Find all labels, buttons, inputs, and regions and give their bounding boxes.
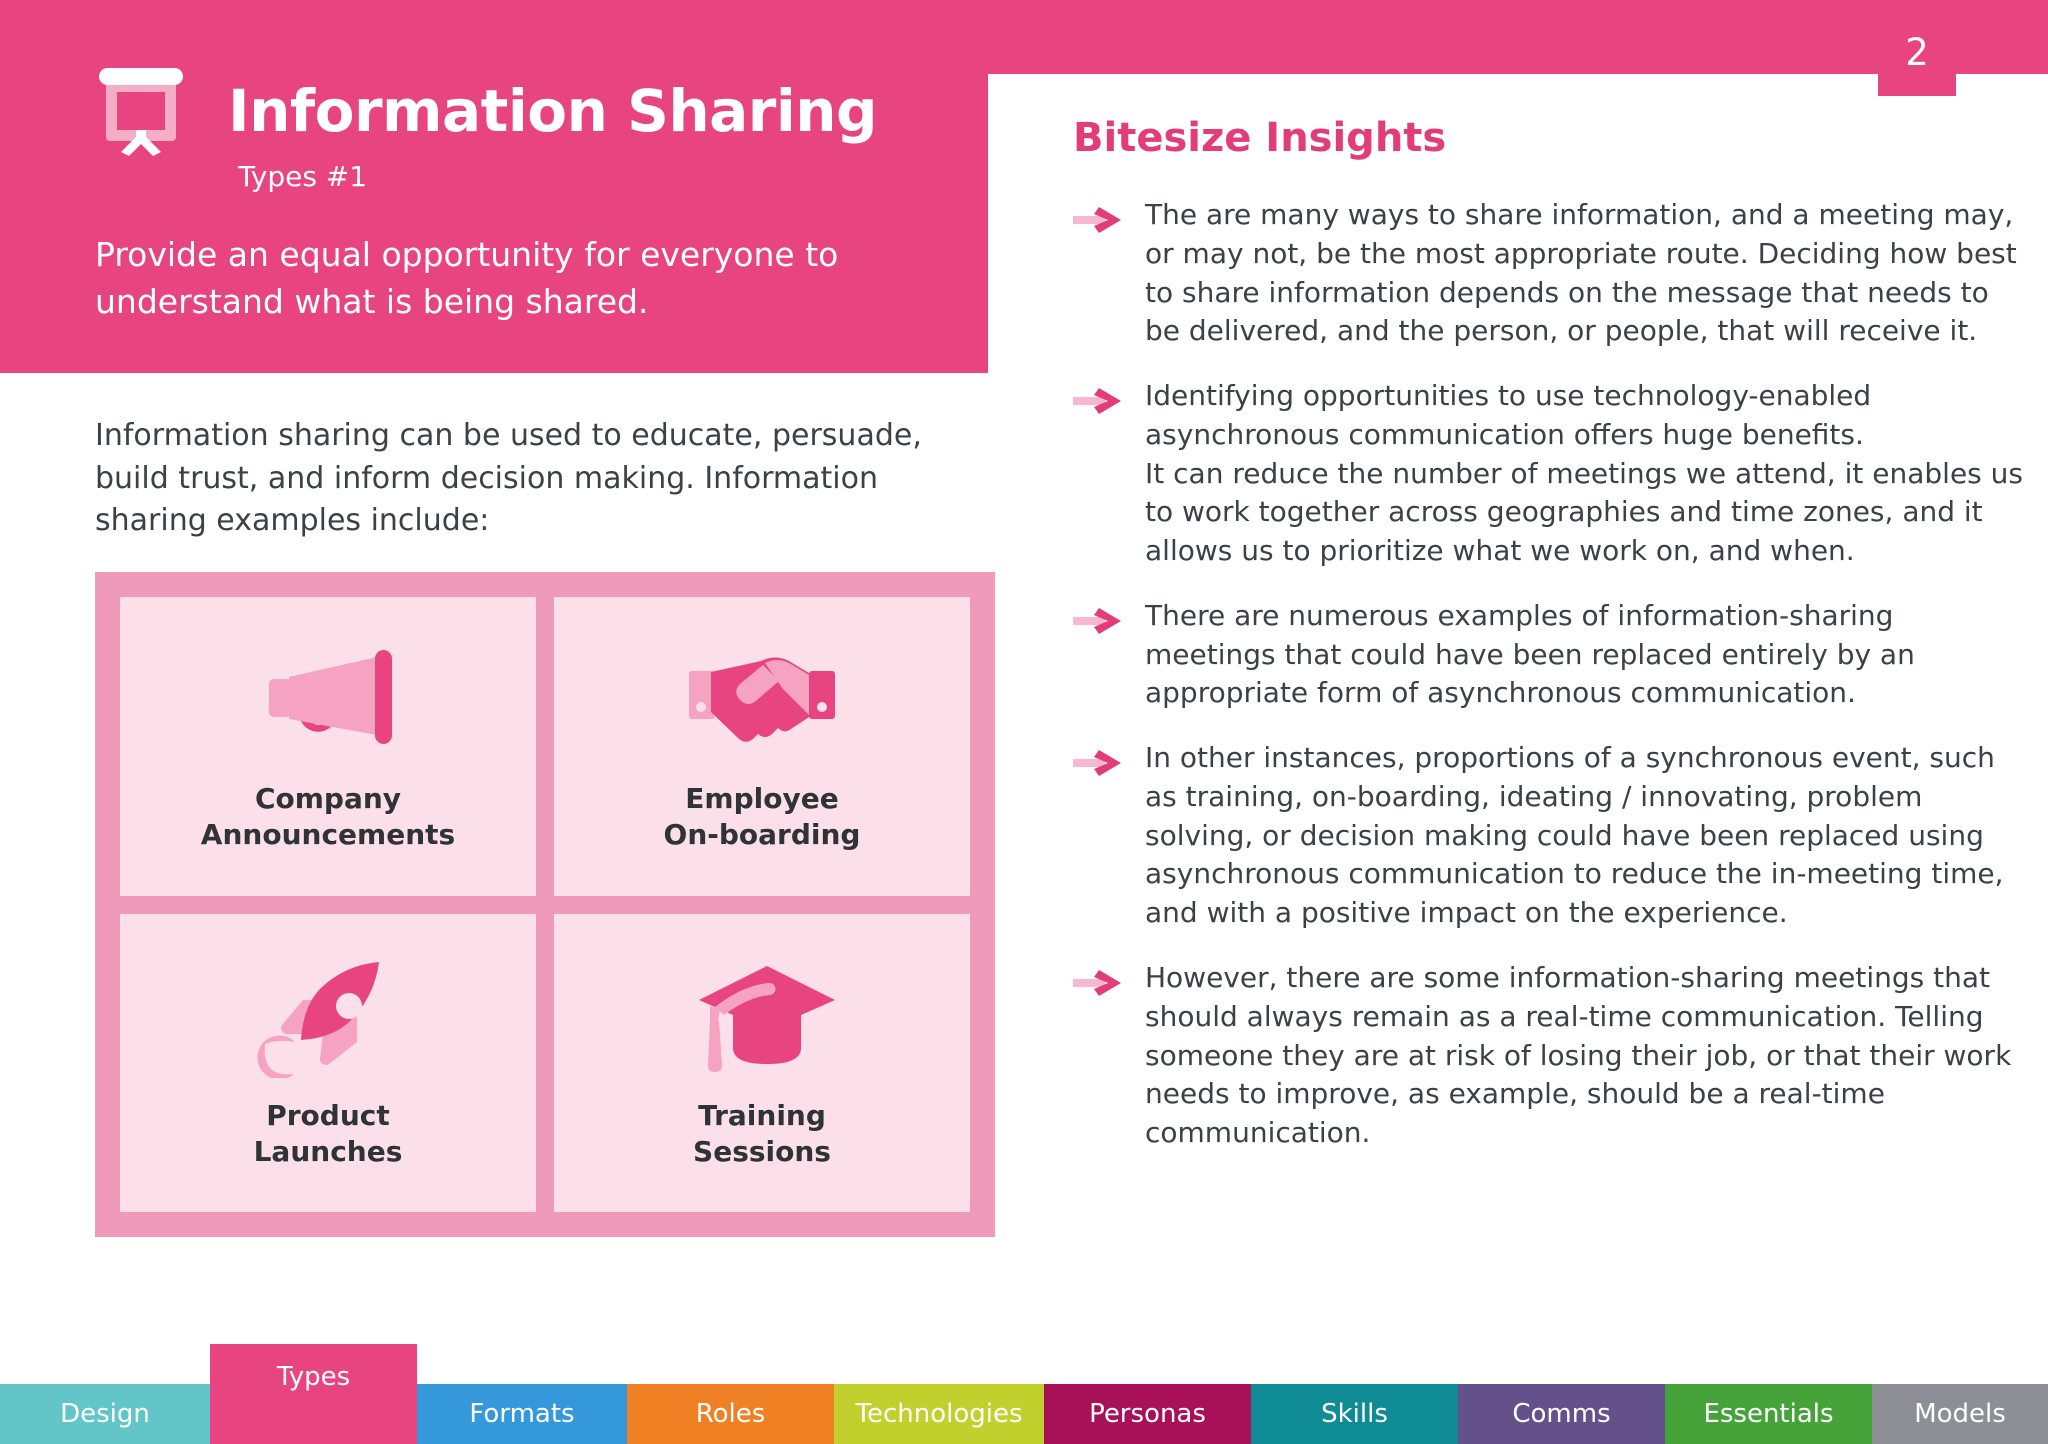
- arrow-right-icon: [1073, 959, 1145, 1153]
- insight-text: In other instances, proportions of a syn…: [1145, 739, 2023, 933]
- insights-heading: Bitesize Insights: [1073, 118, 1446, 158]
- arrow-right-icon: [1073, 739, 1145, 933]
- megaphone-icon: [253, 639, 403, 767]
- insight-item: The are many ways to share information, …: [1073, 196, 2023, 351]
- insight-item: Identifying opportunities to use technol…: [1073, 377, 2023, 571]
- header-title-block: Information Sharing Types #1 Provide an …: [0, 0, 988, 373]
- nav-tab-essentials[interactable]: Essentials: [1665, 1384, 1872, 1444]
- example-card-training-sessions[interactable]: Training Sessions: [554, 914, 970, 1213]
- nav-tab-label: Personas: [1089, 1399, 1206, 1429]
- nav-tab-label: Formats: [469, 1399, 574, 1429]
- nav-tab-label: Models: [1914, 1399, 2006, 1429]
- intro-paragraph: Information sharing can be used to educa…: [95, 415, 975, 543]
- handshake-icon: [687, 639, 837, 767]
- bottom-nav: DesignTypesFormatsRolesTechnologiesPerso…: [0, 1384, 2048, 1444]
- page-number: 2: [1878, 34, 1956, 71]
- insight-item: There are numerous examples of informati…: [1073, 597, 2023, 713]
- nav-tab-label: Skills: [1321, 1399, 1388, 1429]
- insight-text: However, there are some information-shar…: [1145, 959, 2023, 1153]
- arrow-right-icon: [1073, 196, 1145, 351]
- example-card-label: Product Launches: [254, 1098, 403, 1170]
- example-card-product-launches[interactable]: Product Launches: [120, 914, 536, 1213]
- nav-tab-types[interactable]: Types: [210, 1344, 417, 1444]
- arrow-right-icon: [1073, 377, 1145, 571]
- nav-tab-label: Essentials: [1703, 1399, 1833, 1429]
- nav-tab-comms[interactable]: Comms: [1458, 1384, 1665, 1444]
- nav-tab-label: Design: [60, 1399, 150, 1429]
- examples-grid: Company Announcements Employee On-boardi…: [95, 572, 995, 1237]
- page-tagline: Provide an equal opportunity for everyon…: [95, 232, 945, 326]
- insight-text: The are many ways to share information, …: [1145, 196, 2023, 351]
- example-card-label: Employee On-boarding: [664, 781, 861, 853]
- insight-text: Identifying opportunities to use technol…: [1145, 377, 2023, 571]
- nav-tab-design[interactable]: Design: [0, 1384, 210, 1444]
- nav-tab-models[interactable]: Models: [1872, 1384, 2048, 1444]
- nav-tab-personas[interactable]: Personas: [1044, 1384, 1251, 1444]
- nav-tab-label: Roles: [696, 1399, 766, 1429]
- arrow-right-icon: [1073, 597, 1145, 713]
- insights-list: The are many ways to share information, …: [1073, 196, 2023, 1179]
- page-title: Information Sharing: [228, 82, 877, 140]
- example-card-employee-onboarding[interactable]: Employee On-boarding: [554, 597, 970, 896]
- nav-tab-roles[interactable]: Roles: [627, 1384, 834, 1444]
- insight-item: However, there are some information-shar…: [1073, 959, 2023, 1153]
- example-card-label: Company Announcements: [201, 781, 455, 853]
- nav-tab-skills[interactable]: Skills: [1251, 1384, 1458, 1444]
- example-card-label: Training Sessions: [693, 1098, 831, 1170]
- nav-tab-label: Types: [277, 1362, 350, 1392]
- example-card-company-announcements[interactable]: Company Announcements: [120, 597, 536, 896]
- presentation-board-icon: [95, 68, 187, 156]
- nav-tab-label: Technologies: [855, 1399, 1022, 1429]
- insight-text: There are numerous examples of informati…: [1145, 597, 2023, 713]
- nav-tab-formats[interactable]: Formats: [417, 1384, 627, 1444]
- insight-item: In other instances, proportions of a syn…: [1073, 739, 2023, 933]
- nav-tab-label: Comms: [1512, 1399, 1610, 1429]
- page-subtitle: Types #1: [238, 163, 367, 191]
- graduation-cap-icon: [687, 956, 837, 1084]
- nav-tab-technologies[interactable]: Technologies: [834, 1384, 1044, 1444]
- rocket-icon: [253, 956, 403, 1084]
